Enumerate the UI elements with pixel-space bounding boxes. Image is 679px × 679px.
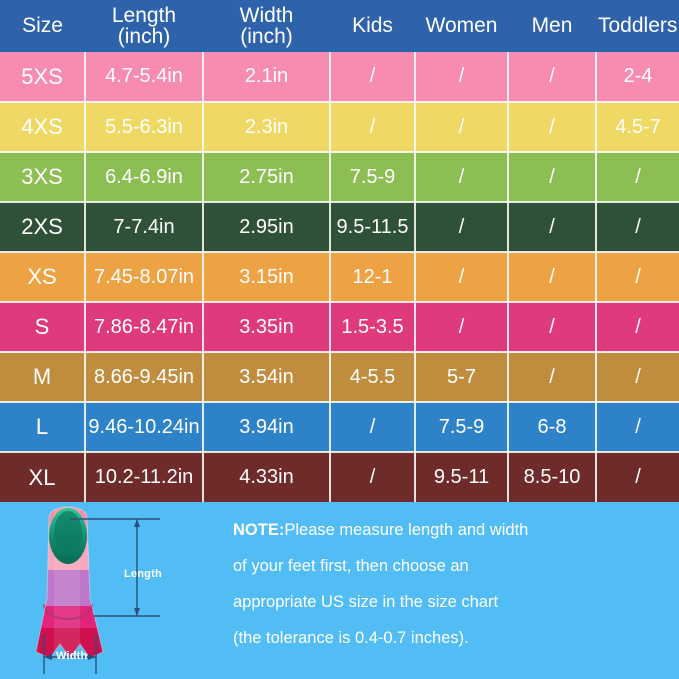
cell-width: 3.15in [203, 252, 330, 302]
table-row: XS7.45-8.07in3.15in12-1/// [0, 252, 679, 302]
cell-kids: 7.5-9 [330, 152, 415, 202]
note-text: NOTE:Please measure length and width of … [233, 512, 663, 656]
cell-length: 7-7.4in [85, 202, 203, 252]
cell-width: 2.75in [203, 152, 330, 202]
cell-women: / [415, 302, 508, 352]
table-row: S7.86-8.47in3.35in1.5-3.5/// [0, 302, 679, 352]
cell-kids: 4-5.5 [330, 352, 415, 402]
cell-kids: / [330, 102, 415, 152]
cell-size: XS [0, 252, 85, 302]
cell-toddlers: 4.5-7 [596, 102, 679, 152]
cell-width: 2.3in [203, 102, 330, 152]
cell-toddlers: / [596, 152, 679, 202]
cell-size: 4XS [0, 102, 85, 152]
cell-women: / [415, 252, 508, 302]
header-label-kids: Kids [352, 14, 393, 37]
cell-men: / [508, 52, 596, 102]
cell-kids: 12-1 [330, 252, 415, 302]
cell-women: 7.5-9 [415, 402, 508, 452]
note-line-2: of your feet first, then choose an [233, 548, 663, 584]
cell-men: / [508, 302, 596, 352]
cell-length: 5.5-6.3in [85, 102, 203, 152]
table-row: M8.66-9.45in3.54in4-5.55-7// [0, 352, 679, 402]
note-panel: Length Width NOTE:Please measure length … [0, 502, 679, 679]
cell-women: / [415, 202, 508, 252]
column-header-kids: Kids [330, 0, 415, 52]
cell-size: 3XS [0, 152, 85, 202]
cell-length: 8.66-9.45in [85, 352, 203, 402]
cell-width: 2.1in [203, 52, 330, 102]
table-header: Size Length (inch) Width (inch) Kids Wom… [0, 0, 679, 52]
column-header-length: Length (inch) [85, 0, 203, 52]
table-row: L9.46-10.24in3.94in/7.5-96-8/ [0, 402, 679, 452]
size-chart-table: Size Length (inch) Width (inch) Kids Wom… [0, 0, 679, 502]
note-label: NOTE: [233, 521, 284, 539]
cell-toddlers: / [596, 302, 679, 352]
cell-men: / [508, 102, 596, 152]
table-row: 4XS5.5-6.3in2.3in///4.5-7 [0, 102, 679, 152]
header-label-size: Size [22, 14, 63, 37]
header-label-length: Length [112, 4, 176, 27]
cell-women: / [415, 102, 508, 152]
header-unit-length: (inch) [87, 26, 201, 47]
cell-length: 7.45-8.07in [85, 252, 203, 302]
fin-diagram-svg [8, 506, 223, 678]
header-label-width: Width [240, 4, 294, 27]
cell-women: 5-7 [415, 352, 508, 402]
cell-women: / [415, 52, 508, 102]
header-label-women: Women [426, 14, 498, 37]
cell-men: 8.5-10 [508, 452, 596, 502]
length-dimension-label: Length [124, 568, 162, 580]
cell-size: 2XS [0, 202, 85, 252]
cell-men: / [508, 152, 596, 202]
cell-kids: / [330, 402, 415, 452]
cell-kids: 1.5-3.5 [330, 302, 415, 352]
length-arrow-down-icon [134, 608, 140, 616]
cell-size: S [0, 302, 85, 352]
cell-length: 9.46-10.24in [85, 402, 203, 452]
cell-kids: / [330, 52, 415, 102]
cell-toddlers: / [596, 202, 679, 252]
cell-toddlers: / [596, 352, 679, 402]
cell-toddlers: / [596, 402, 679, 452]
table-row: 2XS7-7.4in2.95in9.5-11.5/// [0, 202, 679, 252]
cell-length: 7.86-8.47in [85, 302, 203, 352]
cell-width: 2.95in [203, 202, 330, 252]
column-header-width: Width (inch) [203, 0, 330, 52]
cell-width: 3.35in [203, 302, 330, 352]
cell-size: XL [0, 452, 85, 502]
note-line-4: (the tolerance is 0.4-0.7 inches). [233, 620, 663, 656]
table-body: 5XS4.7-5.4in2.1in///2-44XS5.5-6.3in2.3in… [0, 52, 679, 502]
width-dimension-label: Width [56, 650, 87, 662]
cell-size: M [0, 352, 85, 402]
column-header-women: Women [415, 0, 508, 52]
fin-foot-pocket-inner [54, 511, 82, 555]
length-arrow-up-icon [134, 519, 140, 527]
cell-women: / [415, 152, 508, 202]
column-header-men: Men [508, 0, 596, 52]
cell-women: 9.5-11 [415, 452, 508, 502]
header-label-men: Men [532, 14, 573, 37]
cell-length: 10.2-11.2in [85, 452, 203, 502]
table-row: 5XS4.7-5.4in2.1in///2-4 [0, 52, 679, 102]
cell-width: 3.54in [203, 352, 330, 402]
cell-width: 3.94in [203, 402, 330, 452]
size-chart-page: Size Length (inch) Width (inch) Kids Wom… [0, 0, 679, 679]
cell-length: 6.4-6.9in [85, 152, 203, 202]
table-row: 3XS6.4-6.9in2.75in7.5-9/// [0, 152, 679, 202]
cell-size: L [0, 402, 85, 452]
cell-toddlers: / [596, 452, 679, 502]
column-header-size: Size [0, 0, 85, 52]
note-line-1: NOTE:Please measure length and width [233, 512, 663, 548]
cell-kids: 9.5-11.5 [330, 202, 415, 252]
table-row: XL10.2-11.2in4.33in/9.5-118.5-10/ [0, 452, 679, 502]
cell-kids: / [330, 452, 415, 502]
cell-men: / [508, 252, 596, 302]
header-row: Size Length (inch) Width (inch) Kids Wom… [0, 0, 679, 52]
cell-toddlers: 2-4 [596, 52, 679, 102]
header-unit-width: (inch) [205, 26, 328, 47]
cell-size: 5XS [0, 52, 85, 102]
cell-men: / [508, 352, 596, 402]
note-line-1-text: Please measure length and width [284, 521, 528, 539]
header-label-toddlers: Toddlers [598, 14, 677, 37]
cell-men: 6-8 [508, 402, 596, 452]
swim-fin-illustration: Length Width [8, 506, 223, 678]
note-line-3: appropriate US size in the size chart [233, 584, 663, 620]
cell-length: 4.7-5.4in [85, 52, 203, 102]
cell-width: 4.33in [203, 452, 330, 502]
cell-toddlers: / [596, 252, 679, 302]
cell-men: / [508, 202, 596, 252]
column-header-toddlers: Toddlers [596, 0, 679, 52]
